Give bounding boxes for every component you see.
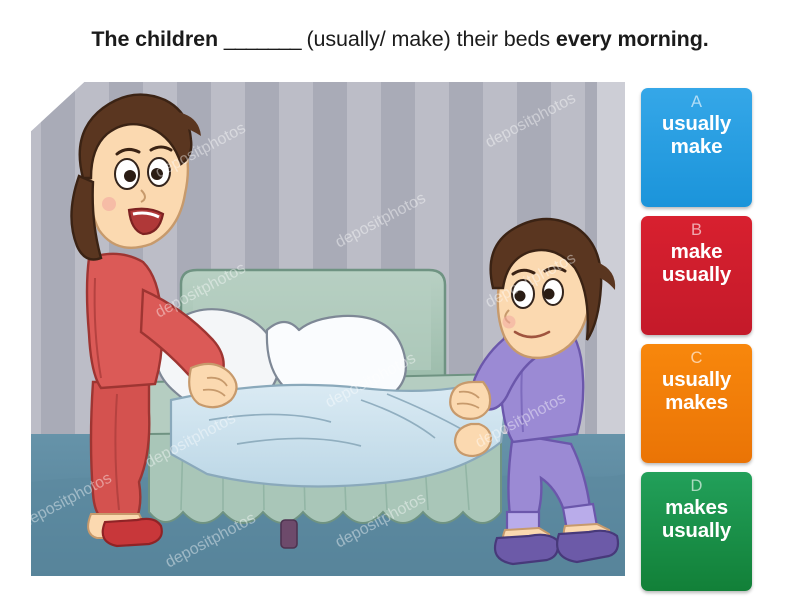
option-letter: C — [691, 349, 703, 368]
option-letter: D — [691, 477, 703, 496]
question-prefix: The children — [91, 27, 218, 51]
question-blank: _______ — [224, 27, 301, 51]
answer-option-d[interactable]: D makes usually — [641, 472, 752, 591]
question-text: The children _______ (usually/ make) the… — [91, 27, 708, 53]
question-middle: (usually/ make) their beds — [306, 27, 550, 51]
option-text: usually makes — [641, 369, 752, 415]
bedroom-scene-svg — [31, 82, 625, 576]
question-bar: The children _______ (usually/ make) the… — [0, 0, 800, 80]
option-text: usually make — [641, 113, 752, 159]
option-letter: A — [691, 93, 702, 112]
option-text: makes usually — [641, 497, 752, 543]
option-text: make usually — [641, 241, 752, 287]
option-letter: B — [691, 221, 702, 240]
illustration-image: depositphotos depositphotos depositphoto… — [31, 82, 625, 576]
answer-option-a[interactable]: A usually make — [641, 88, 752, 207]
answer-options: A usually make B make usually C usually … — [641, 88, 753, 568]
answer-option-b[interactable]: B make usually — [641, 216, 752, 335]
question-suffix: every morning. — [556, 27, 709, 51]
answer-option-c[interactable]: C usually makes — [641, 344, 752, 463]
